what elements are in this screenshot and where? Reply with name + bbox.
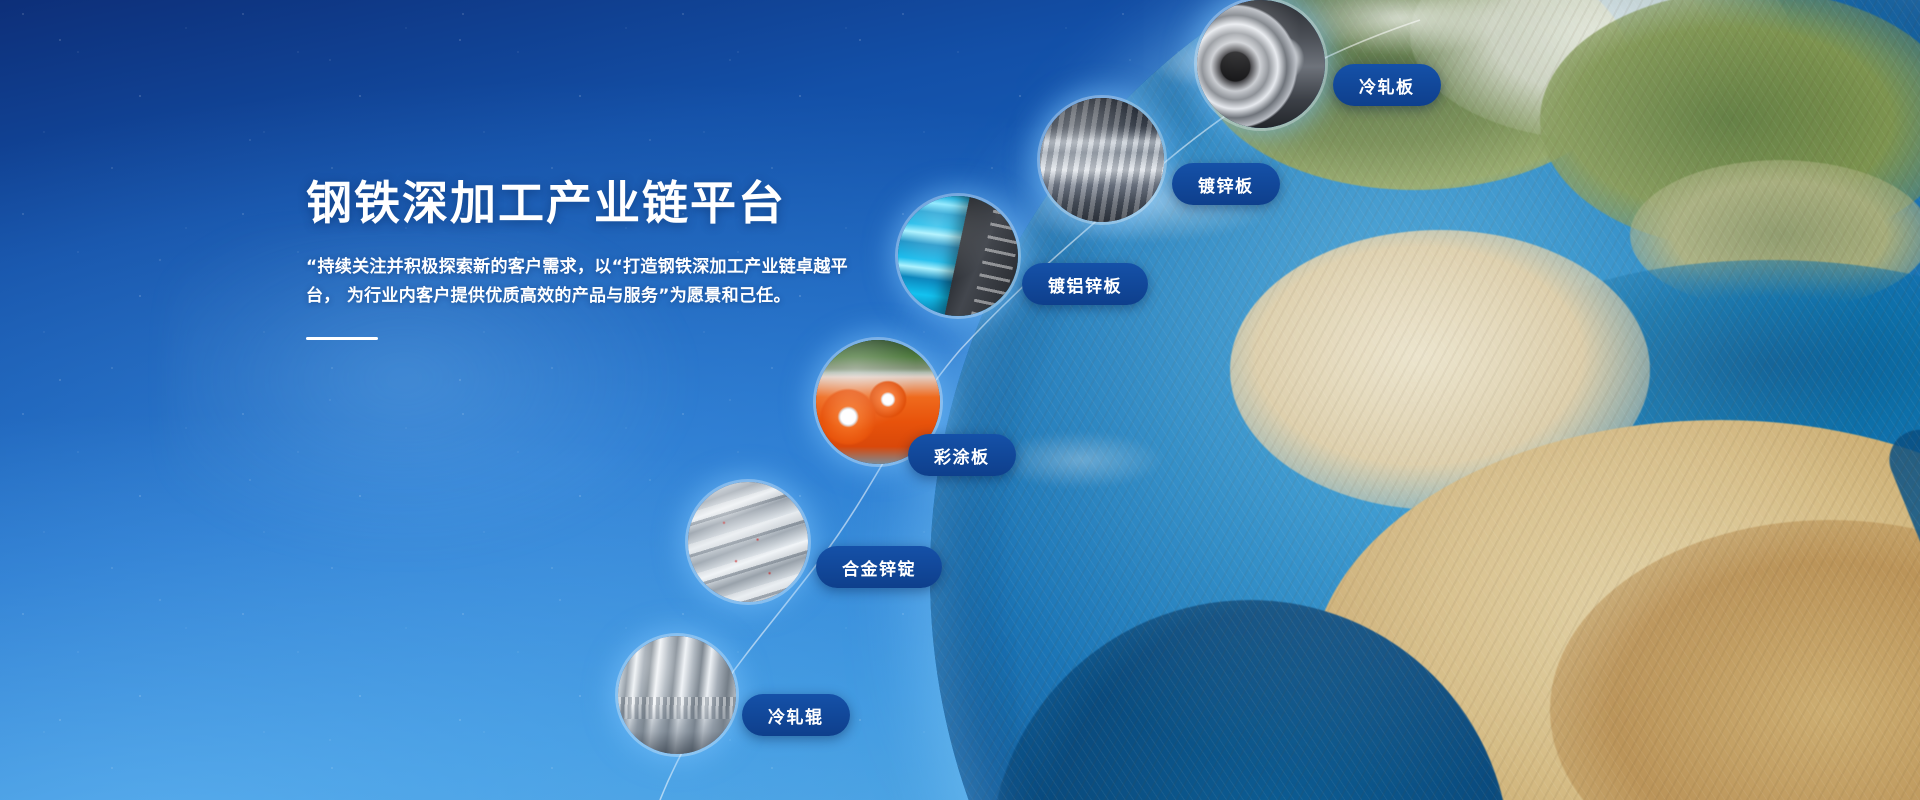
hero-copy: 钢铁深加工产业链平台 “持续关注并积极探索新的客户需求，以“打造钢铁深加工产业链… [306, 178, 906, 340]
product-label-3[interactable]: 彩涂板 [908, 434, 1016, 476]
product-image-4[interactable] [688, 482, 808, 602]
product-label-5[interactable]: 冷轧辊 [742, 694, 850, 736]
hero-subtitle-line2: 为行业内客户提供优质高效的产品与服务”为愿景和己任。 [347, 286, 791, 306]
bubble-gloss [1040, 98, 1164, 222]
bubble-gloss [618, 636, 736, 754]
hero-subtitle: “持续关注并积极探索新的客户需求，以“打造钢铁深加工产业链卓越平台， 为行业内客… [306, 253, 858, 311]
page-title: 钢铁深加工产业链平台 [306, 178, 906, 229]
bubble-gloss [688, 482, 808, 602]
hero-banner: 冷轧板 镀锌板 镀铝锌板 彩涂板 [0, 0, 1920, 800]
product-image-2[interactable] [898, 196, 1018, 316]
bubble-gloss [1197, 0, 1325, 128]
product-label-0[interactable]: 冷轧板 [1333, 64, 1441, 106]
bubble-gloss [898, 196, 1018, 316]
product-image-5[interactable] [618, 636, 736, 754]
title-divider [306, 337, 378, 340]
product-label-1[interactable]: 镀锌板 [1172, 163, 1280, 205]
product-label-4[interactable]: 合金锌锭 [816, 546, 942, 588]
product-image-1[interactable] [1040, 98, 1164, 222]
product-label-2[interactable]: 镀铝锌板 [1022, 263, 1148, 305]
product-image-0[interactable] [1197, 0, 1325, 128]
